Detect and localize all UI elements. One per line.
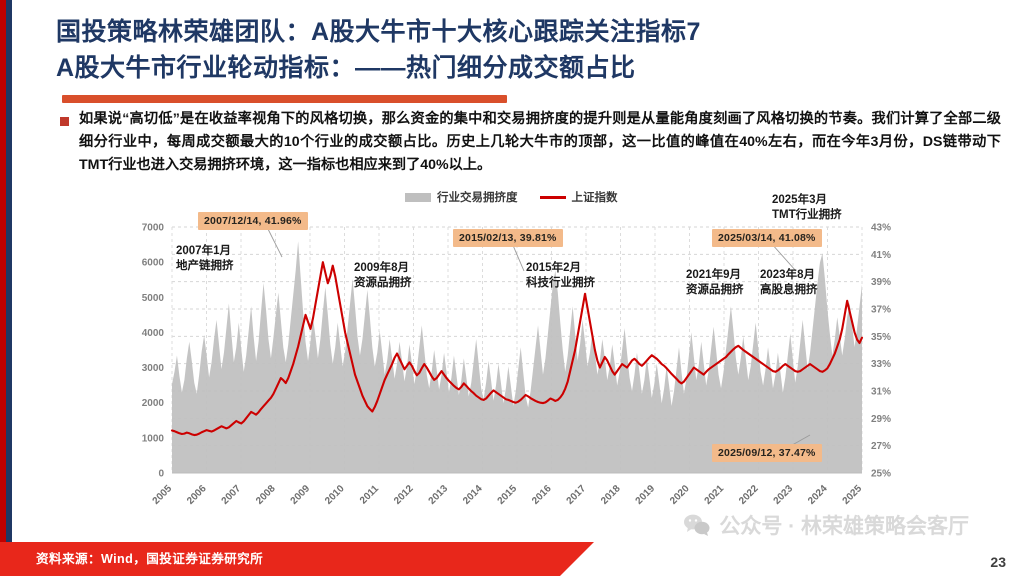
svg-text:29%: 29% — [871, 414, 891, 425]
svg-text:2013: 2013 — [427, 483, 451, 507]
annotation-2007-01-line2: 地产链拥挤 — [176, 259, 234, 274]
callout-2025-09: 2025/09/12, 37.47% — [712, 444, 822, 462]
bullet-paragraph: 如果说“高切低”是在收益率视角下的风格切换，那么资金的集中和交易拥挤度的提升则是… — [60, 108, 1005, 177]
callout-2015: 2015/02/13, 39.81% — [453, 229, 563, 247]
svg-text:2012: 2012 — [392, 483, 416, 507]
left-accent-bar — [0, 0, 12, 576]
annotation-2009-08-line2: 资源品拥挤 — [354, 276, 412, 291]
svg-text:2025: 2025 — [841, 483, 865, 507]
svg-text:2019: 2019 — [634, 483, 658, 507]
svg-text:2015: 2015 — [496, 483, 520, 507]
svg-text:41%: 41% — [871, 250, 891, 261]
page-title-line2: A股大牛市行业轮动指标：——热门细分成交额占比 — [56, 50, 986, 86]
svg-text:6000: 6000 — [142, 258, 165, 269]
svg-text:2016: 2016 — [530, 483, 554, 507]
legend-item-line: 上证指数 — [540, 189, 618, 205]
svg-text:33%: 33% — [871, 359, 891, 370]
svg-text:27%: 27% — [871, 441, 891, 452]
chart-legend: 行业交易拥挤度 上证指数 — [405, 189, 618, 205]
annotation-2015-02: 2015年2月 科技行业拥挤 — [526, 261, 595, 291]
chart-container: 行业交易拥挤度 上证指数 010002000300040005000600070… — [120, 185, 920, 515]
annotation-2007-01-line1: 2007年1月 — [176, 244, 234, 259]
annotation-2025-03-line2: TMT行业拥挤 — [772, 208, 842, 223]
annotation-2021-09-line2: 资源品拥挤 — [686, 283, 744, 298]
annotation-2025-03: 2025年3月 TMT行业拥挤 — [772, 193, 842, 223]
bullet-paragraph-text: 如果说“高切低”是在收益率视角下的风格切换，那么资金的集中和交易拥挤度的提升则是… — [79, 108, 1001, 177]
svg-text:2022: 2022 — [737, 483, 761, 507]
svg-text:2014: 2014 — [461, 483, 485, 507]
svg-text:37%: 37% — [871, 305, 891, 316]
callout-2025-03: 2025/03/14, 41.08% — [712, 229, 822, 247]
annotation-2015-02-line1: 2015年2月 — [526, 261, 595, 276]
legend-area-label: 行业交易拥挤度 — [437, 189, 518, 205]
title-underline — [62, 95, 507, 103]
legend-area-swatch-icon — [405, 193, 431, 202]
left-accent-bar-red — [0, 0, 6, 576]
svg-text:2021: 2021 — [703, 483, 727, 507]
bullet-square-icon — [60, 117, 69, 126]
legend-line-swatch-icon — [540, 196, 566, 199]
annotation-2023-08-line1: 2023年8月 — [760, 268, 818, 283]
svg-text:2020: 2020 — [668, 483, 692, 507]
svg-text:4000: 4000 — [142, 328, 165, 339]
page-number: 23 — [990, 554, 1006, 570]
footer-source: 资料来源：Wind，国投证券证券研究所 — [36, 548, 263, 567]
svg-text:43%: 43% — [871, 223, 891, 234]
svg-text:7000: 7000 — [142, 223, 165, 234]
page-title-line1: 国投策略林荣雄团队：A股大牛市十大核心跟踪关注指标7 — [56, 14, 986, 50]
slide: 国投策略林荣雄团队：A股大牛市十大核心跟踪关注指标7 A股大牛市行业轮动指标：—… — [0, 0, 1024, 576]
callout-2007: 2007/12/14, 41.96% — [198, 212, 308, 230]
svg-text:2007: 2007 — [220, 483, 244, 507]
svg-text:2008: 2008 — [254, 483, 278, 507]
annotation-2025-03-line1: 2025年3月 — [772, 193, 842, 208]
svg-text:25%: 25% — [871, 469, 891, 480]
svg-text:0: 0 — [158, 469, 164, 480]
svg-text:2023: 2023 — [772, 483, 796, 507]
svg-text:2006: 2006 — [185, 483, 209, 507]
svg-text:2017: 2017 — [565, 483, 589, 507]
annotation-2009-08-line1: 2009年8月 — [354, 261, 412, 276]
svg-text:31%: 31% — [871, 387, 891, 398]
legend-line-label: 上证指数 — [572, 189, 618, 205]
annotation-2009-08: 2009年8月 资源品拥挤 — [354, 261, 412, 291]
svg-text:3000: 3000 — [142, 363, 165, 374]
svg-text:39%: 39% — [871, 277, 891, 288]
svg-text:2018: 2018 — [599, 483, 623, 507]
svg-text:2024: 2024 — [806, 483, 830, 507]
legend-item-area: 行业交易拥挤度 — [405, 189, 518, 205]
svg-text:2000: 2000 — [142, 398, 165, 409]
svg-text:2005: 2005 — [151, 483, 175, 507]
annotation-2023-08: 2023年8月 高股息拥挤 — [760, 268, 818, 298]
svg-text:5000: 5000 — [142, 293, 165, 304]
page-title: 国投策略林荣雄团队：A股大牛市十大核心跟踪关注指标7 A股大牛市行业轮动指标：—… — [56, 14, 986, 86]
annotation-2023-08-line2: 高股息拥挤 — [760, 283, 818, 298]
svg-text:35%: 35% — [871, 332, 891, 343]
annotation-2021-09: 2021年9月 资源品拥挤 — [686, 268, 744, 298]
svg-text:2009: 2009 — [289, 483, 313, 507]
wechat-icon — [683, 513, 711, 537]
annotation-2021-09-line1: 2021年9月 — [686, 268, 744, 283]
annotation-2015-02-line2: 科技行业拥挤 — [526, 276, 595, 291]
svg-text:2010: 2010 — [323, 483, 347, 507]
annotation-2007-01: 2007年1月 地产链拥挤 — [176, 244, 234, 274]
svg-text:2011: 2011 — [358, 483, 381, 506]
svg-text:1000: 1000 — [142, 433, 165, 444]
